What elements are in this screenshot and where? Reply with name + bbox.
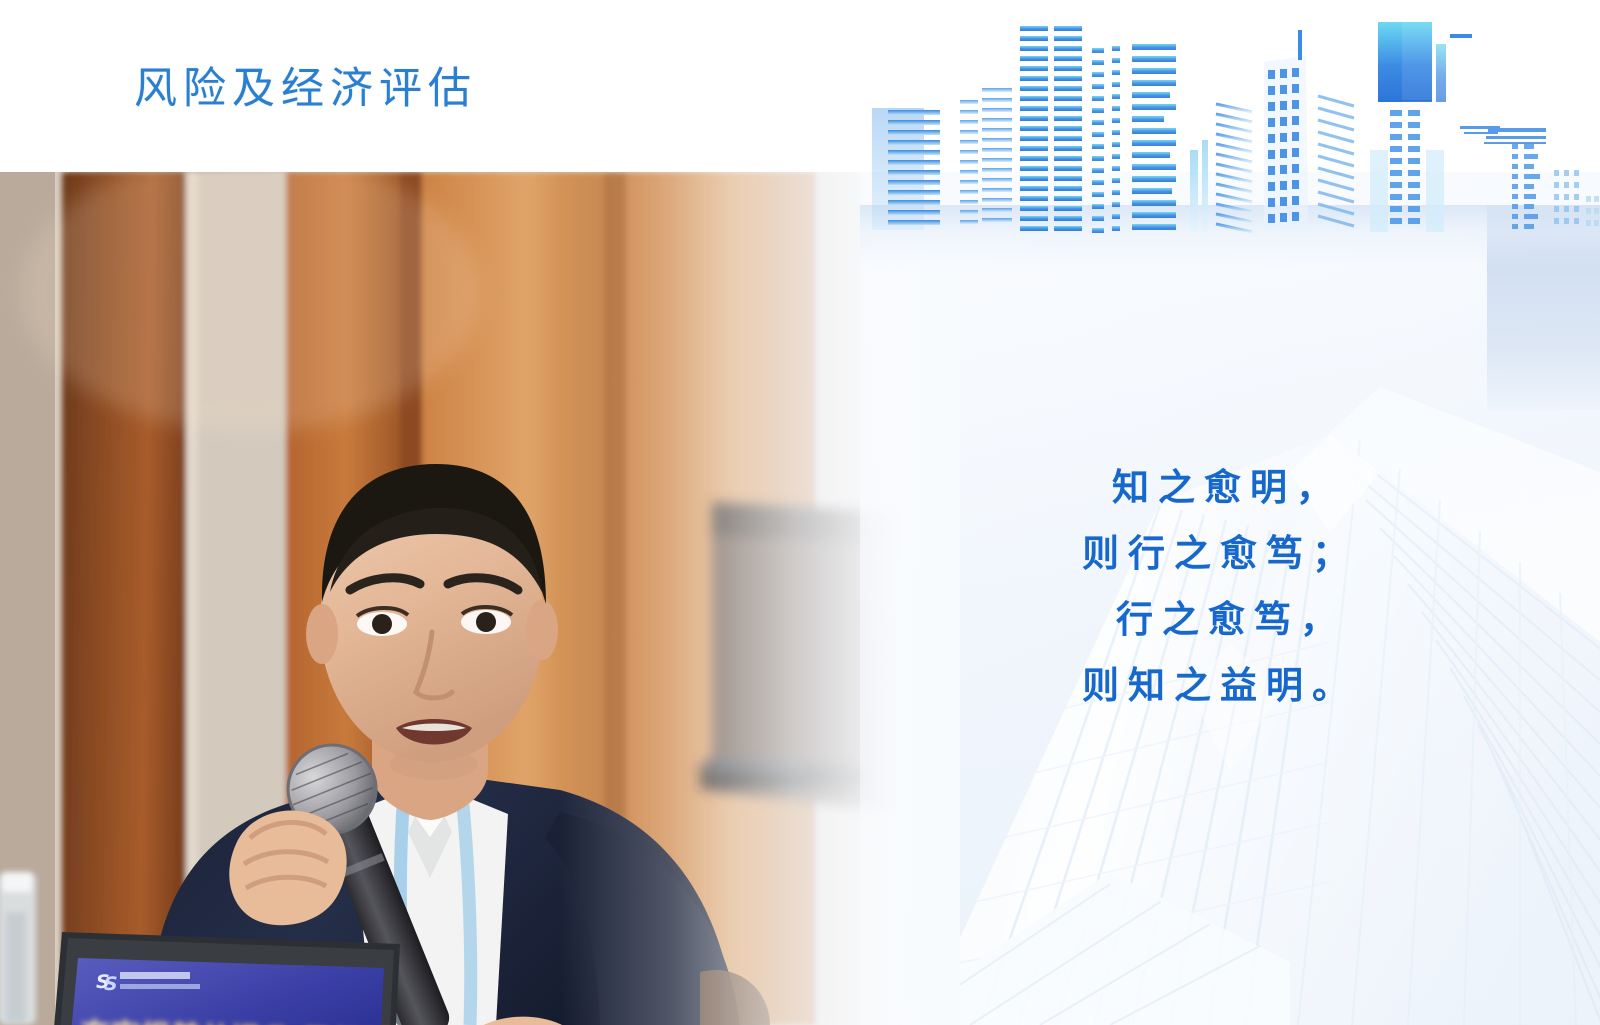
quote-block: 知之愈明， 则行之愈笃； 行之愈笃， 则知之益明。 <box>1000 455 1440 719</box>
quote-line-2: 则行之愈笃； <box>1000 521 1440 587</box>
quote-line-1: 知之愈明， <box>1000 455 1440 521</box>
svg-text:S: S <box>104 973 118 995</box>
slide-root: S S 夯实根基共提升·思想赋新齐发力 工程咨询专题研讨交流会 <box>0 0 1600 1025</box>
quote-line-4: 则知之益明。 <box>1000 653 1440 719</box>
conference-speaker-photo: S S 夯实根基共提升·思想赋新齐发力 工程咨询专题研讨交流会 <box>0 172 900 1025</box>
page-title: 风险及经济评估 <box>134 63 477 115</box>
quote-line-3: 行之愈笃， <box>1000 587 1440 653</box>
header-band: 风险及经济评估 <box>0 0 1600 172</box>
